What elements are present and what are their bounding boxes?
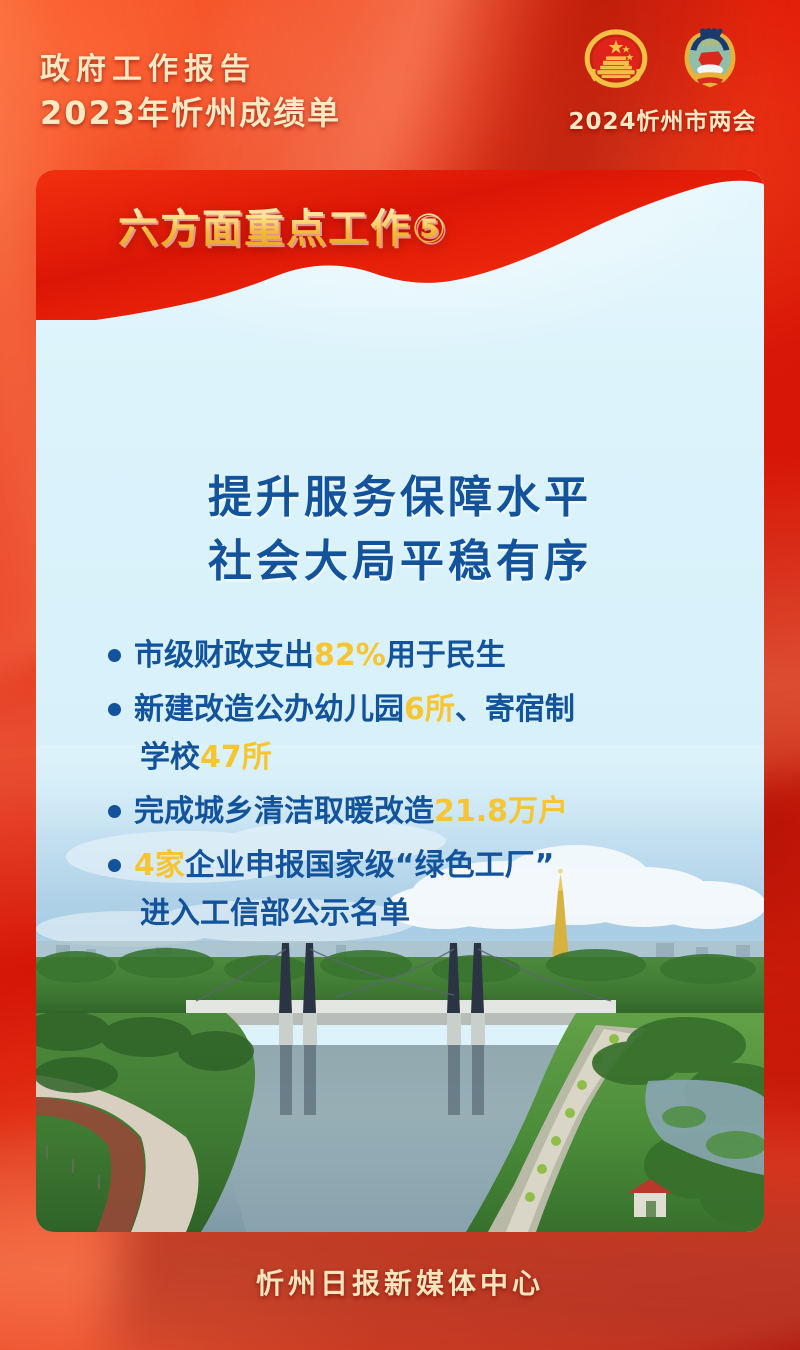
bullet-text: 市级财政支出82%用于民生 xyxy=(134,632,506,680)
emblem-label: 2024忻州市两会 xyxy=(555,102,770,136)
card-headline: 提升服务保障水平 社会大局平稳有序 xyxy=(36,466,764,594)
poster-root: 政府工作报告 2023年忻州成绩单 xyxy=(0,0,800,1350)
bullet-text: 完成城乡清洁取暖改造21.8万户 xyxy=(134,788,568,836)
emblem-group: 1949 2024忻州市两会 xyxy=(555,24,770,136)
bullet-dot-icon xyxy=(108,859,121,872)
poster-header: 政府工作报告 2023年忻州成绩单 xyxy=(0,0,800,172)
bullet-text: 4家企业申报国家级“绿色工厂”进入工信部公示名单 xyxy=(134,842,554,938)
content-card: 提升服务保障水平 社会大局平稳有序 市级财政支出82%用于民生新建改造公办幼儿园… xyxy=(36,170,764,1232)
cppcc-emblem-icon: 1949 xyxy=(674,24,746,96)
header-title-line2: 2023年忻州成绩单 xyxy=(40,92,341,134)
national-emblem-icon xyxy=(580,24,652,96)
bullet-dot-icon xyxy=(108,703,121,716)
card-top-wave xyxy=(36,170,764,320)
headline-line1: 提升服务保障水平 xyxy=(36,466,764,530)
bullet-list: 市级财政支出82%用于民生新建改造公办幼儿园6所、寄宿制学校47所完成城乡清洁取… xyxy=(108,632,708,944)
bullet-dot-icon xyxy=(108,805,121,818)
bullet-item: 新建改造公办幼儿园6所、寄宿制学校47所 xyxy=(108,686,708,782)
footer-credit: 忻州日报新媒体中心 xyxy=(0,1262,800,1302)
header-title-line1: 政府工作报告 xyxy=(40,50,341,90)
bullet-item: 市级财政支出82%用于民生 xyxy=(108,632,708,680)
bullet-text: 新建改造公办幼儿园6所、寄宿制学校47所 xyxy=(134,686,575,782)
headline-line2: 社会大局平稳有序 xyxy=(36,530,764,594)
poster-footer: 忻州日报新媒体中心 xyxy=(0,1262,800,1302)
bullet-item: 4家企业申报国家级“绿色工厂”进入工信部公示名单 xyxy=(108,842,708,938)
bullet-dot-icon xyxy=(108,649,121,662)
header-title-block: 政府工作报告 2023年忻州成绩单 xyxy=(40,50,341,134)
svg-text:1949: 1949 xyxy=(700,39,719,48)
bullet-item: 完成城乡清洁取暖改造21.8万户 xyxy=(108,788,708,836)
emblem-row: 1949 xyxy=(555,24,770,96)
